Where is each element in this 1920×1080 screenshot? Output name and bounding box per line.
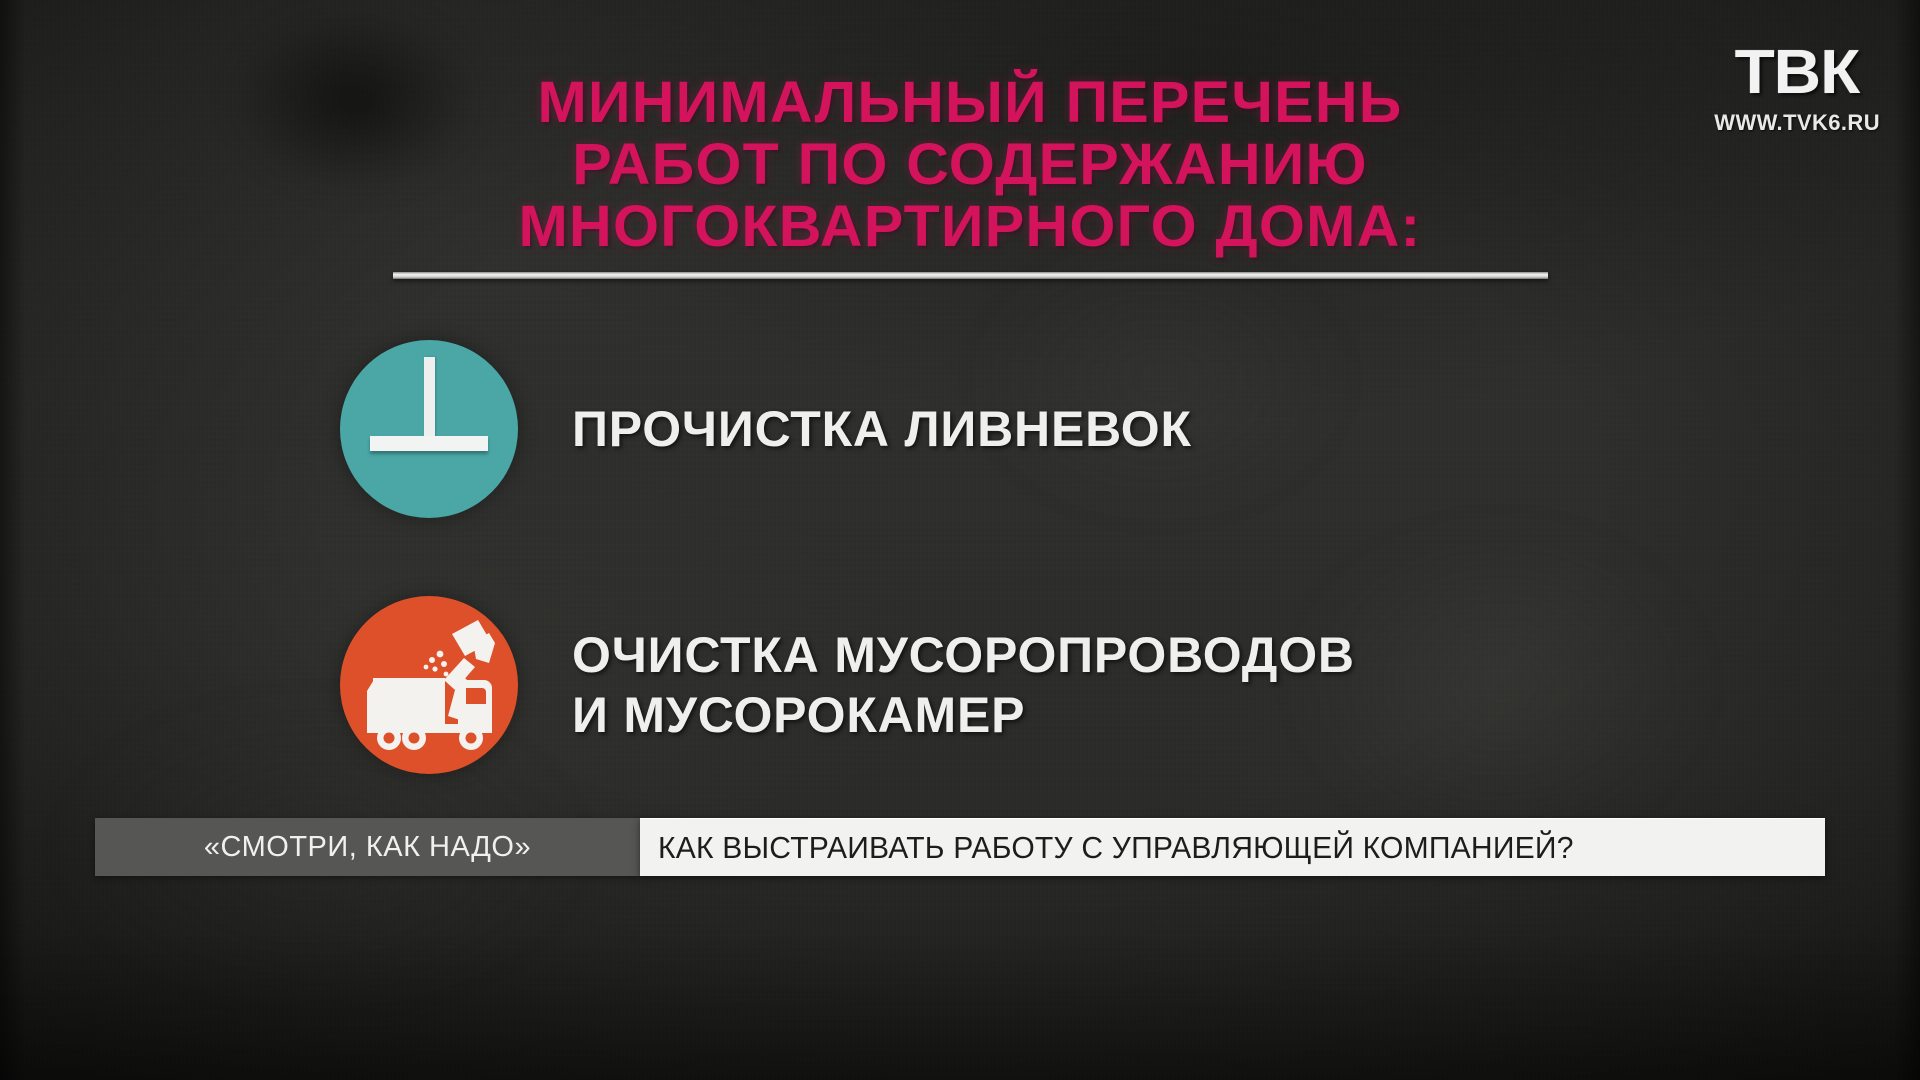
- topic-box: КАК ВЫСТРАИВАТЬ РАБОТУ С УПРАВЛЯЮЩЕЙ КОМ…: [640, 818, 1825, 876]
- headline-block: МИНИМАЛЬНЫЙ ПЕРЕЧЕНЬ РАБОТ ПО СОДЕРЖАНИЮ…: [390, 72, 1550, 279]
- squeegee-blade: [370, 436, 488, 451]
- channel-logo: ТВК WWW.TVK6.RU: [1714, 42, 1880, 136]
- headline-line-2: РАБОТ ПО СОДЕРЖАНИЮ: [378, 134, 1561, 196]
- squeegee-icon: [340, 340, 518, 518]
- list-item-label: ПРОЧИСТКА ЛИВНЕВОК: [572, 399, 1192, 459]
- list-item-label-line2: И МУСОРОКАМЕР: [572, 685, 1355, 745]
- works-list: ПРОЧИСТКА ЛИВНЕВОК: [340, 340, 1640, 852]
- list-item: ОЧИСТКА МУСОРОПРОВОДОВ И МУСОРОКАМЕР: [340, 596, 1640, 774]
- list-item-label-line1: ПРОЧИСТКА ЛИВНЕВОК: [572, 401, 1192, 457]
- list-item-label-line1: ОЧИСТКА МУСОРОПРОВОДОВ: [572, 625, 1355, 685]
- garbage-truck-icon: [340, 596, 518, 774]
- topic-text: КАК ВЫСТРАИВАТЬ РАБОТУ С УПРАВЛЯЮЩЕЙ КОМ…: [658, 830, 1574, 866]
- headline-divider: [393, 272, 1548, 279]
- list-item-label: ОЧИСТКА МУСОРОПРОВОДОВ И МУСОРОКАМЕР: [572, 625, 1355, 745]
- channel-website-url: WWW.TVK6.RU: [1714, 110, 1880, 136]
- channel-logo-mark: ТВК: [1709, 42, 1885, 104]
- list-item: ПРОЧИСТКА ЛИВНЕВОК: [340, 340, 1640, 518]
- broadcast-frame: ТВК WWW.TVK6.RU МИНИМАЛЬНЫЙ ПЕРЕЧЕНЬ РАБ…: [0, 0, 1920, 1080]
- squeegee-handle: [424, 357, 435, 443]
- headline-line-3: МНОГОКВАРТИРНОГО ДОМА:: [378, 196, 1561, 258]
- headline-line-1: МИНИМАЛЬНЫЙ ПЕРЕЧЕНЬ: [378, 72, 1561, 134]
- segment-name-box: «СМОТРИ, КАК НАДО»: [95, 818, 640, 876]
- segment-name-text: «СМОТРИ, КАК НАДО»: [204, 831, 531, 864]
- lower-third-banner: «СМОТРИ, КАК НАДО» КАК ВЫСТРАИВАТЬ РАБОТ…: [95, 818, 1825, 876]
